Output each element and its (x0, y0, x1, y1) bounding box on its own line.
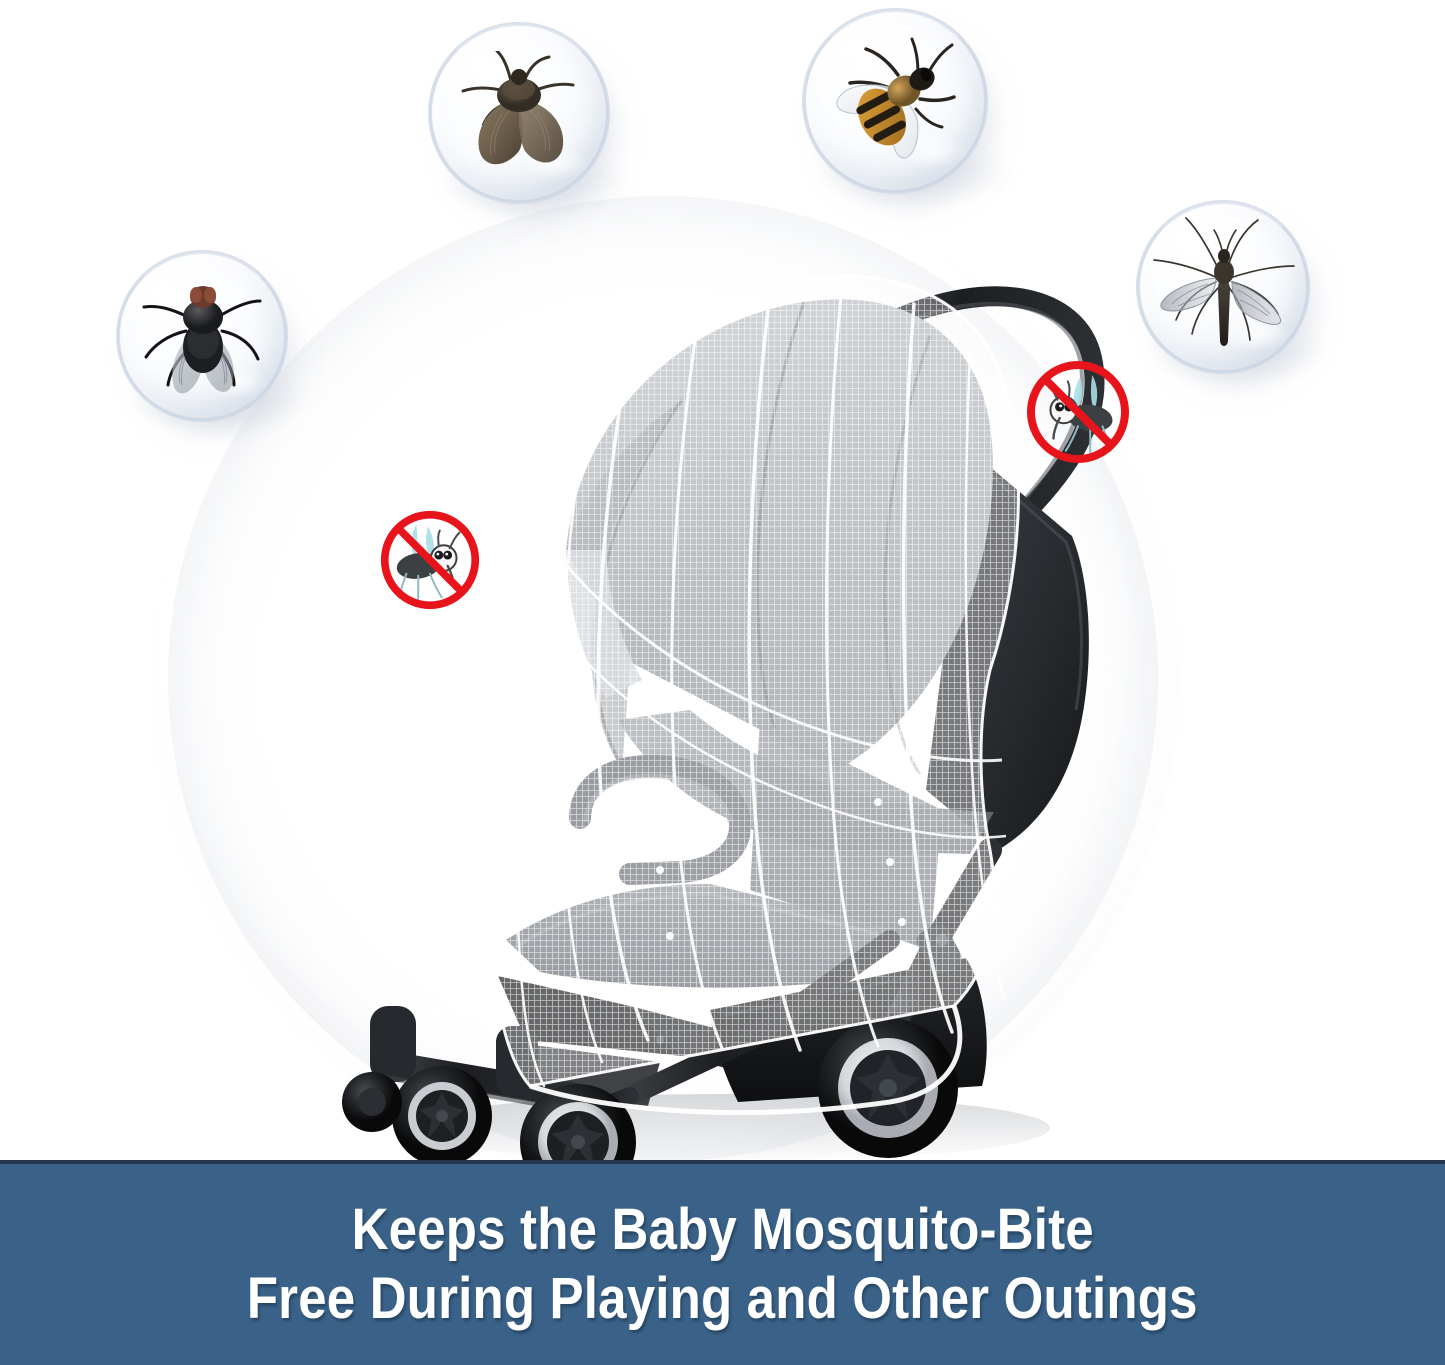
stroller-illustration (330, 250, 1130, 1180)
bubble-honeybee (802, 8, 988, 194)
bubble-drain-fly (428, 22, 610, 204)
caption-banner: Keeps the Baby Mosquito-Bite Free During… (0, 1160, 1445, 1365)
drain-fly-icon (453, 51, 585, 175)
crane-fly-icon (1148, 216, 1298, 358)
product-image-canvas: Keeps the Baby Mosquito-Bite Free During… (0, 0, 1445, 1365)
rear-wheel (818, 1018, 958, 1158)
honeybee-icon (820, 31, 970, 171)
no-mosquito-icon-mid-left (378, 508, 482, 612)
caption-line-1: Keeps the Baby Mosquito-Bite (351, 1200, 1093, 1260)
bubble-housefly (116, 250, 288, 422)
front-wheel-inner (392, 1066, 492, 1166)
caption-line-2: Free During Playing and Other Outings (247, 1269, 1198, 1329)
housefly-icon (134, 273, 270, 399)
bubble-crane-fly (1136, 200, 1310, 374)
no-mosquito-icon-upper-right (1024, 358, 1132, 466)
